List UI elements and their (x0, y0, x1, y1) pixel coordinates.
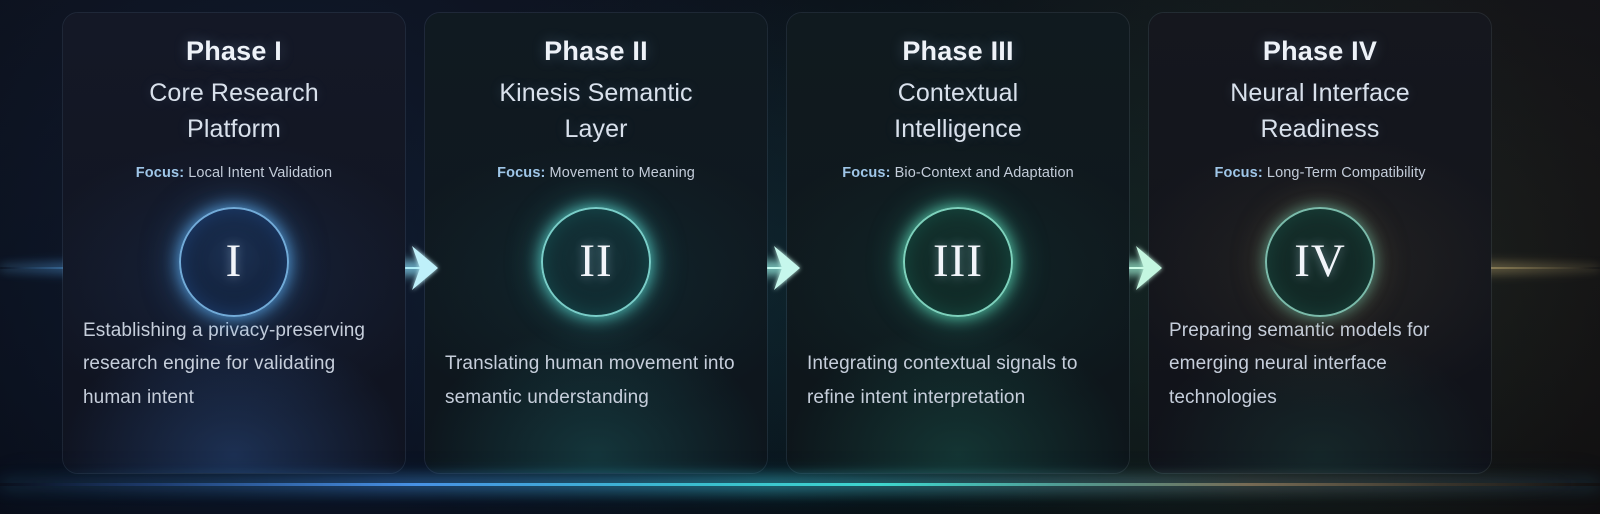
phase-badge-1[interactable]: I (179, 207, 289, 317)
phase-title-4-line2: Readiness (1260, 115, 1379, 143)
phase-focus-2: Focus: Movement to Meaning (445, 164, 747, 183)
phase-badge-3[interactable]: III (903, 207, 1013, 317)
phase-badge-4-numeral: IV (1294, 238, 1346, 285)
phase-focus-4-key: Focus: (1214, 165, 1262, 181)
phase-focus-2-value: Movement to Meaning (550, 165, 695, 181)
phase-badge-3-numeral: III (933, 238, 983, 285)
phase-title-4-line1: Neural Interface (1230, 79, 1409, 107)
phase-label-1: Phase I (83, 35, 385, 68)
phase-title-1-line1: Core Research (149, 79, 318, 107)
phase-badge-2[interactable]: II (541, 207, 651, 317)
phase-title-4: Neural Interface Readiness (1169, 75, 1471, 147)
phase-badge-4[interactable]: IV (1265, 207, 1375, 317)
phase-description-4: Preparing semantic models for emerging n… (1169, 314, 1471, 415)
phase-badge-zone-1: I (83, 193, 385, 314)
phase-badge-2-numeral: II (579, 238, 612, 285)
phase-description-1: Establishing a privacy-preserving resear… (83, 314, 385, 415)
phase-focus-4-value: Long-Term Compatibility (1267, 165, 1426, 181)
phase-badge-1-numeral: I (226, 238, 243, 285)
phase-description-3: Integrating contextual signals to refine… (807, 347, 1109, 415)
phase-focus-4: Focus: Long-Term Compatibility (1169, 164, 1471, 183)
phase-card-1[interactable]: Phase I Core Research Platform Focus: Lo… (62, 12, 406, 474)
phase-title-2-line1: Kinesis Semantic (499, 79, 692, 107)
phase-badge-zone-3: III (807, 193, 1109, 343)
bottom-beam-line (0, 483, 1600, 486)
phase-focus-1-value: Local Intent Validation (188, 165, 332, 181)
phase-title-3-line1: Contextual (898, 79, 1019, 107)
phase-title-1: Core Research Platform (83, 75, 385, 147)
phase-title-3: Contextual Intelligence (807, 75, 1109, 147)
phase-label-2: Phase II (445, 35, 747, 68)
phase-title-3-line2: Intelligence (894, 115, 1022, 143)
phase-focus-3-value: Bio-Context and Adaptation (895, 165, 1074, 181)
phase-focus-3-key: Focus: (842, 165, 890, 181)
phase-title-2-line2: Layer (564, 115, 627, 143)
phase-label-3: Phase III (807, 35, 1109, 68)
phase-card-3[interactable]: Phase III Contextual Intelligence Focus:… (786, 12, 1130, 474)
phase-focus-1: Focus: Local Intent Validation (83, 164, 385, 183)
phase-focus-2-key: Focus: (497, 165, 545, 181)
phase-focus-3: Focus: Bio-Context and Adaptation (807, 164, 1109, 183)
phase-title-1-line2: Platform (187, 115, 281, 143)
phase-card-4[interactable]: Phase IV Neural Interface Readiness Focu… (1148, 12, 1492, 474)
phase-title-2: Kinesis Semantic Layer (445, 75, 747, 147)
phase-card-2[interactable]: Phase II Kinesis Semantic Layer Focus: M… (424, 12, 768, 474)
phase-focus-1-key: Focus: (136, 165, 184, 181)
phase-label-4: Phase IV (1169, 35, 1471, 68)
phase-badge-zone-2: II (445, 193, 747, 343)
phase-badge-zone-4: IV (1169, 193, 1471, 314)
roadmap-diagram: Phase I Core Research Platform Focus: Lo… (0, 0, 1600, 514)
phase-description-2: Translating human movement into semantic… (445, 347, 747, 415)
